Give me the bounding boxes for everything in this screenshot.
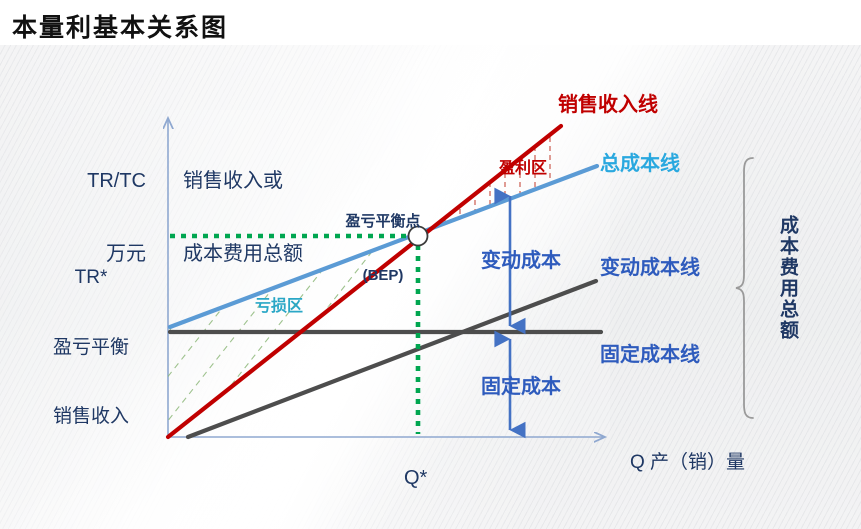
legend-sales-revenue-line: 销售收入线: [558, 93, 658, 117]
y-axis-caption-line2: 成本费用总额: [183, 242, 303, 266]
y-axis-caption-line1: 销售收入或: [183, 169, 303, 193]
y-tick-line1: TR*: [26, 266, 156, 289]
cost-total-brace: [736, 158, 753, 418]
y-axis-name-line1: TR/TC: [36, 169, 146, 193]
bep-annotation-line1: 盈亏平衡点: [318, 213, 448, 231]
variable-cost-gap-label: 变动成本: [481, 249, 561, 273]
bep-chart-page: 本量利基本关系图: [0, 0, 861, 529]
bep-annotation: 盈亏平衡点 (BEP): [318, 176, 448, 322]
y-tick-tr-star: TR* 盈亏平衡 销售收入: [26, 220, 156, 475]
profit-zone-label: 盈利区: [499, 159, 547, 179]
x-axis-name: Q 产（销）量: [630, 451, 745, 474]
y-tick-line2: 盈亏平衡: [26, 336, 156, 359]
cost-total-bracket-label: 成本费用总额: [778, 215, 797, 341]
y-tick-line3: 销售收入: [26, 405, 156, 428]
loss-zone-label: 亏损区: [255, 297, 303, 317]
legend-fixed-cost-line: 固定成本线: [600, 343, 700, 367]
x-tick-q-star: Q*: [404, 466, 427, 490]
bep-annotation-line2: (BEP): [318, 267, 448, 285]
legend-total-cost-line: 总成本线: [600, 152, 680, 176]
fixed-cost-gap-label: 固定成本: [481, 375, 561, 399]
legend-variable-cost-line: 变动成本线: [600, 256, 700, 280]
y-axis-caption: 销售收入或 成本费用总额: [183, 120, 303, 315]
